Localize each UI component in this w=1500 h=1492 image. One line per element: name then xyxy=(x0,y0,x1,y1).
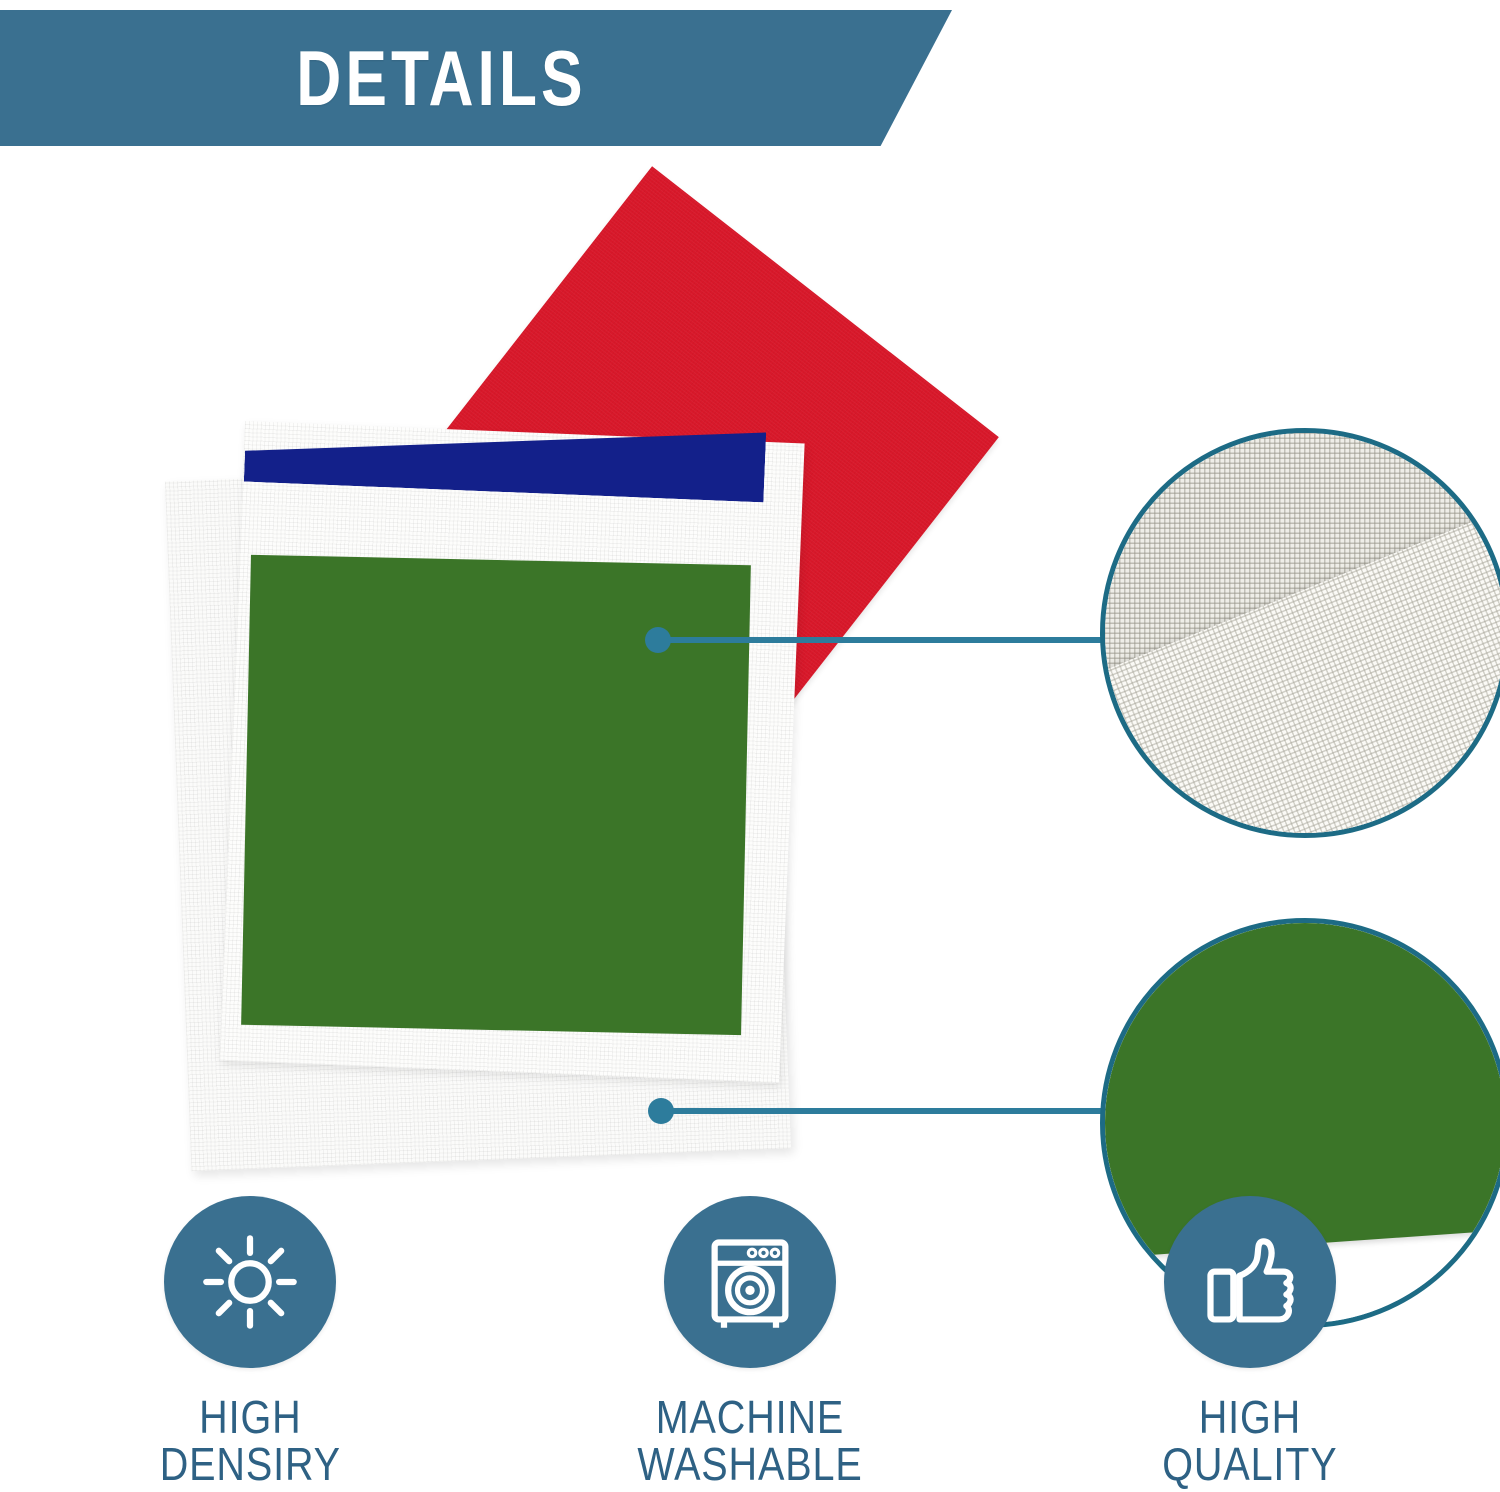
green-printed-square xyxy=(241,555,751,1035)
feature-high-quality: HIGH QUALITY xyxy=(1000,1196,1500,1492)
sun-icon xyxy=(198,1230,302,1334)
feature-label-1-line1: HIGH xyxy=(199,1391,301,1443)
feature-label-2-line1: MACHINE xyxy=(656,1391,844,1443)
leader-line-bottom xyxy=(656,1108,1104,1114)
feature-label-3: HIGH QUALITY xyxy=(1162,1394,1337,1488)
page-title: DETAILS xyxy=(296,33,586,124)
feature-label-1: HIGH DENSIRY xyxy=(159,1394,340,1488)
feature-label-2-line2: WASHABLE xyxy=(637,1441,862,1488)
feature-badge-2 xyxy=(664,1196,836,1368)
feature-high-densiry: HIGH DENSIRY xyxy=(0,1196,500,1492)
thumbs-up-icon xyxy=(1198,1230,1302,1334)
feature-label-3-line2: QUALITY xyxy=(1162,1441,1337,1488)
feature-label-1-line2: DENSIRY xyxy=(159,1441,340,1488)
washing-machine-icon xyxy=(698,1230,802,1334)
leader-dot-top xyxy=(645,627,671,653)
leader-dot-bottom xyxy=(648,1098,674,1124)
feature-machine-washable: MACHINE WASHABLE xyxy=(500,1196,1000,1492)
fabric-weave-swatch xyxy=(1100,428,1500,838)
feature-badge-3 xyxy=(1164,1196,1336,1368)
feature-label-2: MACHINE WASHABLE xyxy=(637,1394,862,1488)
feature-badge-1 xyxy=(164,1196,336,1368)
feature-strip: HIGH DENSIRY xyxy=(0,1196,1500,1492)
details-banner: DETAILS xyxy=(0,10,952,146)
feature-label-3-line1: HIGH xyxy=(1199,1391,1301,1443)
details-page: DETAILS xyxy=(0,0,1500,1492)
leader-line-top xyxy=(652,637,1104,643)
product-photo xyxy=(0,170,1500,1180)
detail-circle-fabric-weave xyxy=(1100,428,1500,838)
